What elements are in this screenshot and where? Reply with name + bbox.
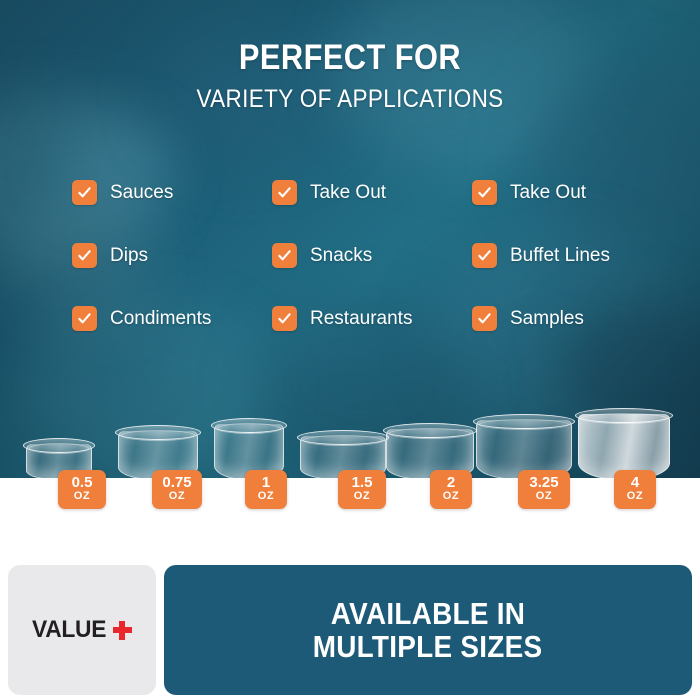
cta-line-1: AVAILABLE IN xyxy=(331,597,525,630)
feature-label: Condiments xyxy=(110,308,211,330)
feature-label: Restaurants xyxy=(310,308,412,330)
feature-list: Sauces Take Out Take Out Dips xyxy=(72,180,672,369)
feature-item-samples: Samples xyxy=(472,306,672,331)
feature-item-restaurants: Restaurants xyxy=(272,306,472,331)
check-icon xyxy=(72,306,97,331)
size-badge-4-oz: 4 OZ xyxy=(614,470,656,509)
check-icon xyxy=(272,306,297,331)
feature-item-sauces: Sauces xyxy=(72,180,272,205)
feature-label: Sauces xyxy=(110,182,173,204)
feature-item-take-out: Take Out xyxy=(272,180,472,205)
check-icon xyxy=(272,243,297,268)
size-badge-2-oz: 2 OZ xyxy=(430,470,472,509)
feature-label: Dips xyxy=(110,245,148,267)
feature-item-buffet-lines: Buffet Lines xyxy=(472,243,672,268)
feature-row: Condiments Restaurants Samples xyxy=(72,306,672,369)
footer-block: VALUE AVAILABLE IN MULTIPLE SIZES xyxy=(0,560,700,700)
page-subtitle: VARIETY OF APPLICATIONS xyxy=(35,86,665,112)
check-icon xyxy=(272,180,297,205)
feature-row: Dips Snacks Buffet Lines xyxy=(72,243,672,306)
brand-name: VALUE xyxy=(32,616,106,644)
size-badge-unit: OZ xyxy=(338,490,386,504)
feature-item-take-out-2: Take Out xyxy=(472,180,672,205)
size-badge-0-75-oz: 0.75 OZ xyxy=(152,470,202,509)
check-icon xyxy=(72,243,97,268)
size-badge-value: 4 xyxy=(614,475,656,490)
size-badge-unit: OZ xyxy=(518,490,570,504)
header-block: PERFECT FOR VARIETY OF APPLICATIONS xyxy=(0,40,700,112)
size-badge-3-25-oz: 3.25 OZ xyxy=(518,470,570,509)
feature-label: Take Out xyxy=(310,182,386,204)
size-badge-unit: OZ xyxy=(245,490,287,504)
cup-lineup xyxy=(0,405,700,480)
cta-line-2: MULTIPLE SIZES xyxy=(313,630,543,663)
size-badge-unit: OZ xyxy=(152,490,202,504)
size-badge-1-5-oz: 1.5 OZ xyxy=(338,470,386,509)
check-icon xyxy=(472,180,497,205)
feature-item-snacks: Snacks xyxy=(272,243,472,268)
feature-item-condiments: Condiments xyxy=(72,306,272,331)
size-badge-value: 3.25 xyxy=(518,475,570,490)
size-badge-value: 2 xyxy=(430,475,472,490)
size-badge-value: 1 xyxy=(245,475,287,490)
page-title: PERFECT FOR xyxy=(42,40,658,77)
product-infographic: PERFECT FOR VARIETY OF APPLICATIONS Sauc… xyxy=(0,0,700,700)
feature-label: Buffet Lines xyxy=(510,245,610,267)
feature-label: Snacks xyxy=(310,245,372,267)
size-badge-value: 1.5 xyxy=(338,475,386,490)
feature-label: Samples xyxy=(510,308,584,330)
size-badge-value: 0.5 xyxy=(58,475,106,490)
check-icon xyxy=(72,180,97,205)
size-badge-value: 0.75 xyxy=(152,475,202,490)
check-icon xyxy=(472,243,497,268)
size-badge-unit: OZ xyxy=(614,490,656,504)
feature-row: Sauces Take Out Take Out xyxy=(72,180,672,243)
size-badge-unit: OZ xyxy=(58,490,106,504)
feature-label: Take Out xyxy=(510,182,586,204)
size-badge-1-oz: 1 OZ xyxy=(245,470,287,509)
size-badge-0-5-oz: 0.5 OZ xyxy=(58,470,106,509)
feature-item-dips: Dips xyxy=(72,243,272,268)
cta-panel: AVAILABLE IN MULTIPLE SIZES xyxy=(164,565,692,695)
brand-logo-panel: VALUE xyxy=(8,565,156,695)
check-icon xyxy=(472,306,497,331)
plus-icon xyxy=(113,621,132,640)
brand-logo: VALUE xyxy=(32,616,131,644)
size-badge-unit: OZ xyxy=(430,490,472,504)
